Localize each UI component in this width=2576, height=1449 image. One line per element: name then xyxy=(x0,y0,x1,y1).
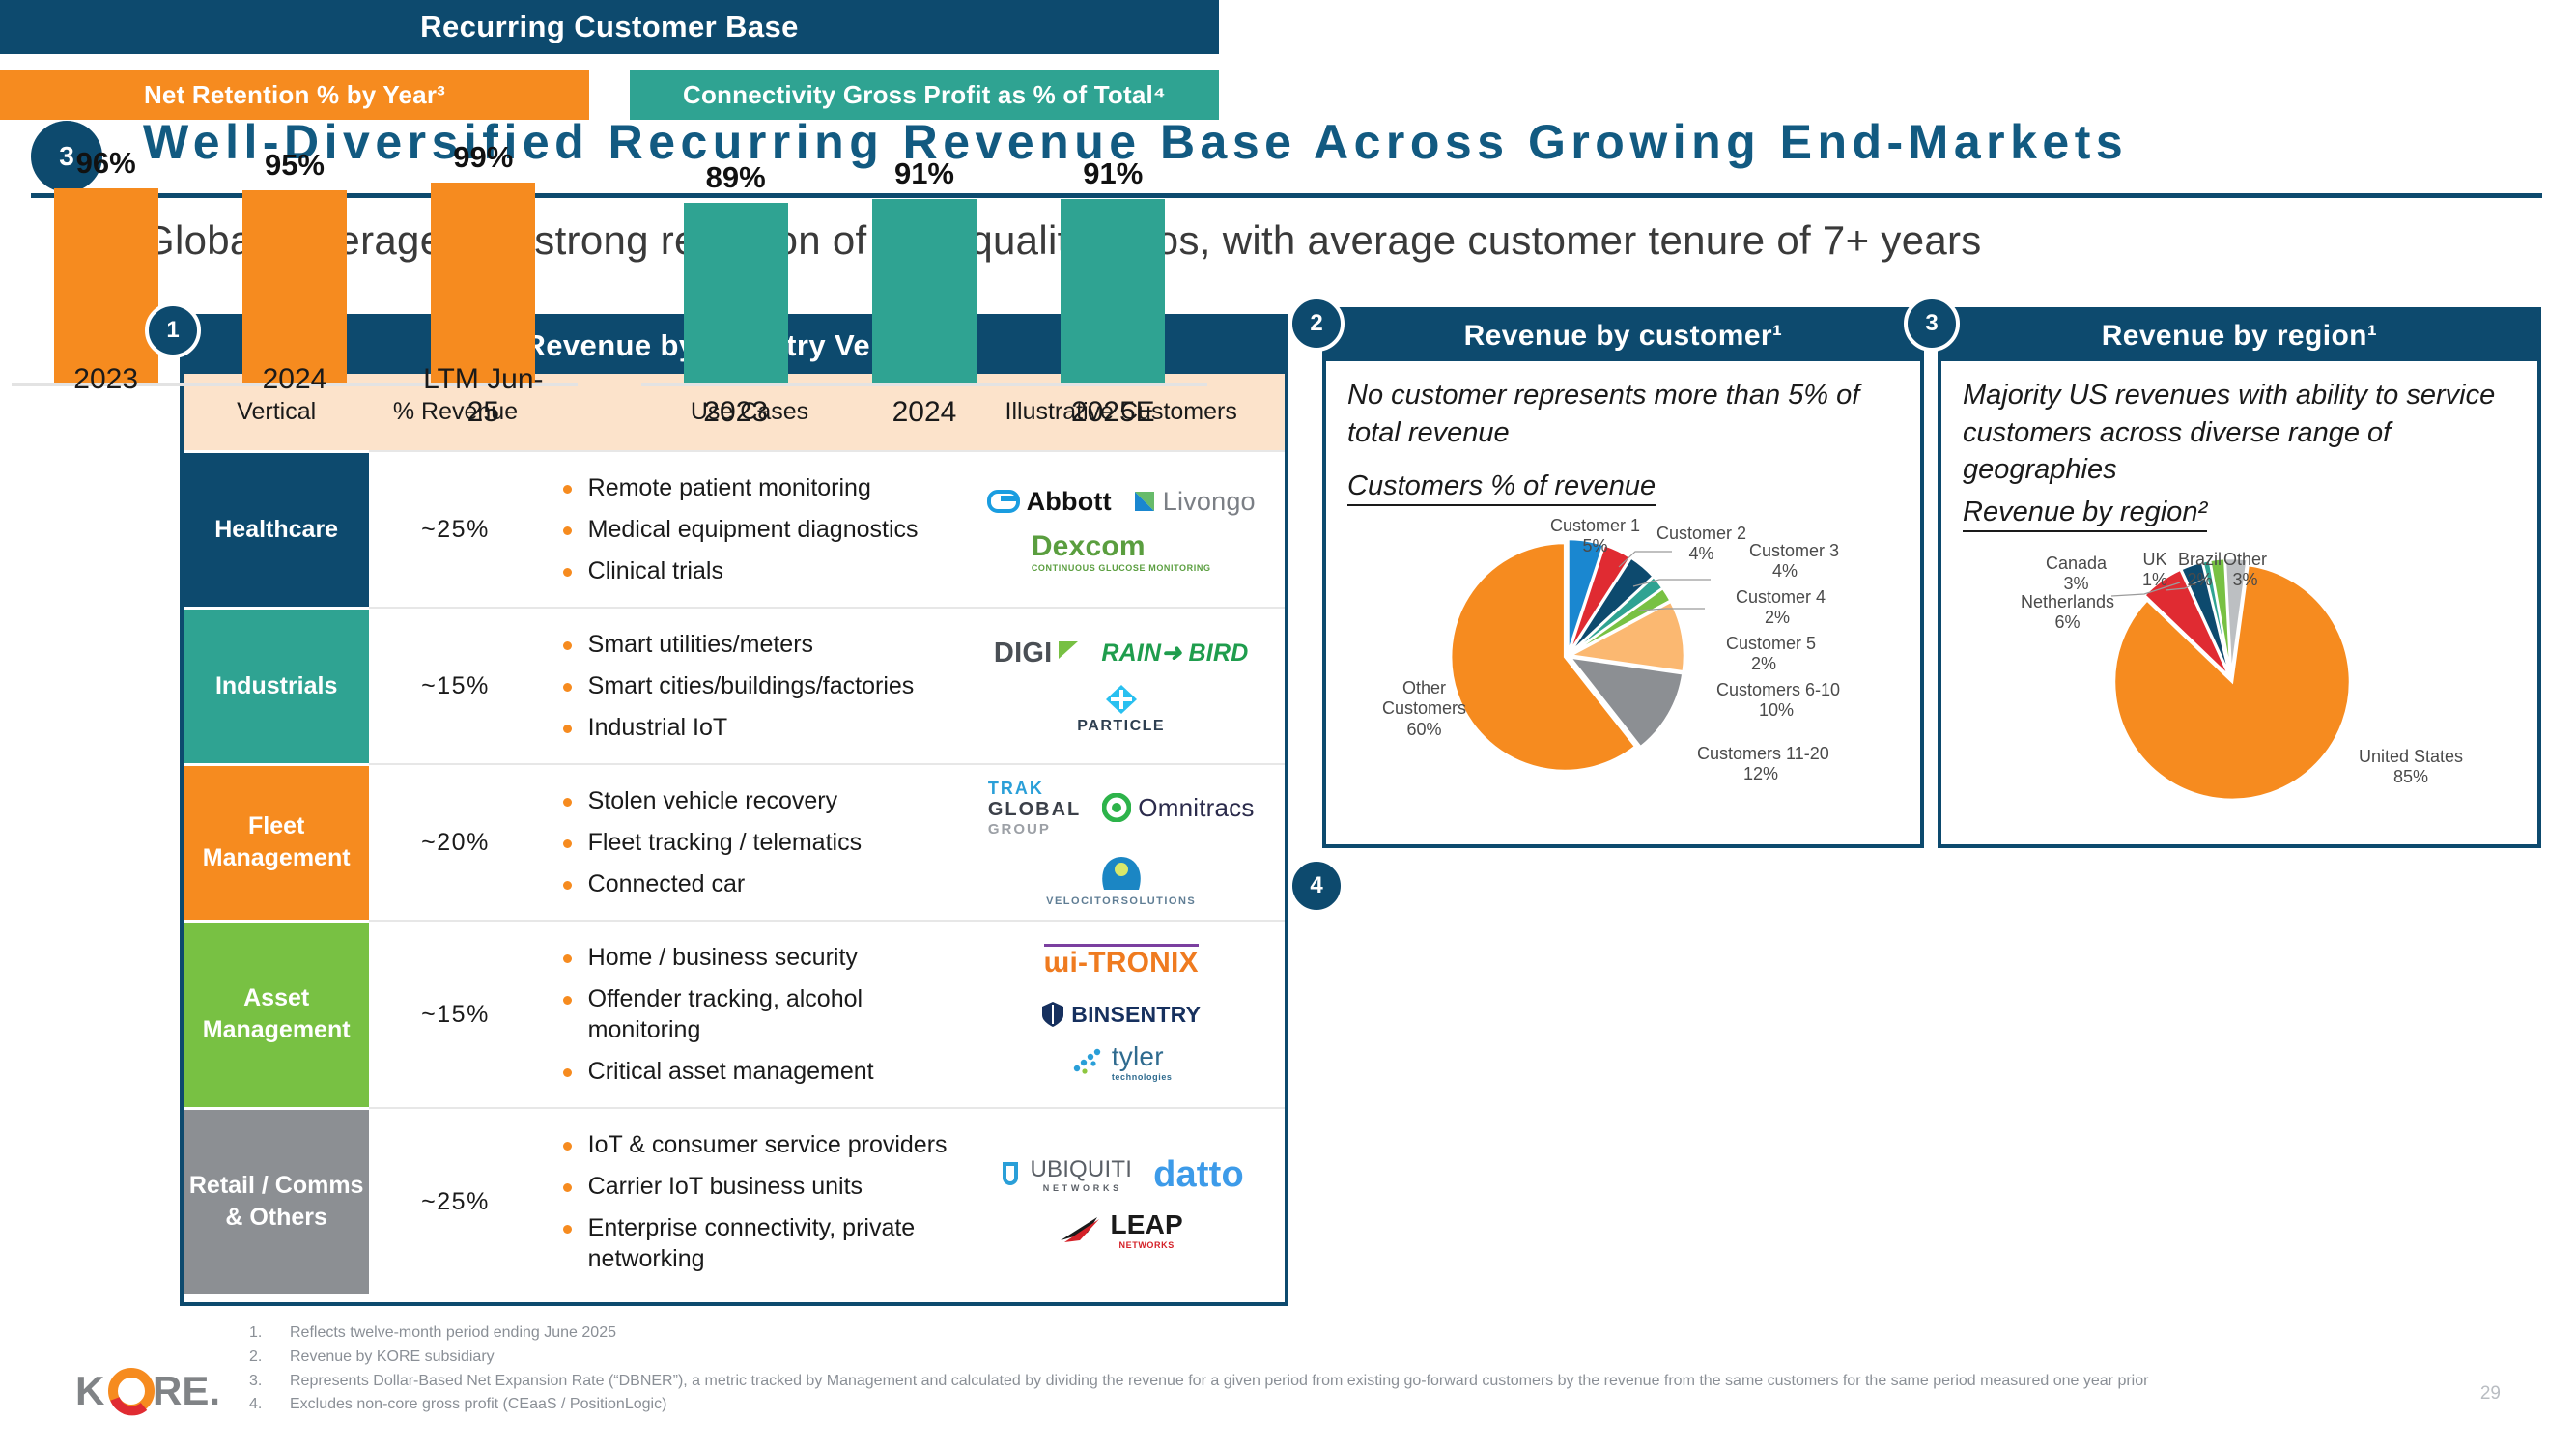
use-case-item: Remote patient monitoring xyxy=(555,472,954,503)
logo-row: AbbottLivongo xyxy=(963,487,1279,517)
customer-logo-tyler-technologies: tylertechnologies xyxy=(1070,1041,1173,1082)
bar-category-label: 2025E xyxy=(1040,396,1185,429)
vertical-cell: Retail / Comms & Others xyxy=(184,1108,369,1294)
table-row: Industrials~15%Smart utilities/metersSma… xyxy=(184,608,1285,764)
illustrative-customers-cell: AbbottLivongoDexcomCONTINUOUS GLUCOSE MO… xyxy=(957,451,1285,608)
logo-row: ɯi-TRONIXBINSENTRY xyxy=(963,947,1279,1028)
pie-label-canada: Canada3% xyxy=(2046,554,2107,594)
svg-text:RE.: RE. xyxy=(153,1368,220,1413)
footnote-text: Revenue by KORE subsidiary xyxy=(290,1346,495,1370)
bar-column: 96% xyxy=(53,146,159,383)
panel-4-badge: 4 xyxy=(1288,858,1345,914)
panel-revenue-by-customer: Revenue by customer¹ No customer represe… xyxy=(1322,307,1924,848)
vertical-cell: Fleet Management xyxy=(184,764,369,921)
pie-label-customers-11-20: Customers 11-2012% xyxy=(1697,744,1829,784)
bar-column: 95% xyxy=(241,148,348,383)
region-pie-chart: Canada3% Netherlands6% UK1% Brazil2% Oth… xyxy=(1941,532,2537,812)
footnote-number: 4. xyxy=(249,1393,290,1417)
illustrative-customers-cell: TRAKGLOBALGROUPOmnitracsVELOCITORSOLUTIO… xyxy=(957,764,1285,921)
pie-label-customer-3: Customer 34% xyxy=(1749,541,1839,582)
revenue-pct-cell: ~15% xyxy=(369,921,541,1108)
revenue-pct-cell: ~25% xyxy=(369,1108,541,1294)
pie-label-netherlands: Netherlands6% xyxy=(2021,592,2114,633)
revenue-pct-cell: ~15% xyxy=(369,608,541,764)
bar-value-label: 96% xyxy=(76,146,136,181)
use-case-item: Home / business security xyxy=(555,942,954,973)
customer-pie-chart: Customer 15% Customer 24% Customer 34% C… xyxy=(1326,506,1920,786)
use-case-item: Stolen vehicle recovery xyxy=(555,785,954,816)
vertical-cell: Industrials xyxy=(184,608,369,764)
use-case-item: Offender tracking, alcohol monitoring xyxy=(555,983,954,1045)
pie-label-other-region: Other3% xyxy=(2223,550,2267,590)
panel-3-title: Revenue by region¹ xyxy=(1941,311,2537,361)
use-case-item: Smart utilities/meters xyxy=(555,629,954,660)
footnote-number: 1. xyxy=(249,1321,290,1346)
use-cases-cell: Remote patient monitoringMedical equipme… xyxy=(542,451,958,608)
revenue-pct-cell: ~25% xyxy=(369,451,541,608)
use-cases-cell: Home / business securityOffender trackin… xyxy=(542,921,958,1108)
pie-label-customers-6-10: Customers 6-1010% xyxy=(1716,680,1840,721)
use-cases-cell: IoT & consumer service providersCarrier … xyxy=(542,1108,958,1294)
bar-value-label: 91% xyxy=(894,156,954,191)
table-row: Asset Management~15%Home / business secu… xyxy=(184,921,1285,1108)
footnote-item: 2.Revenue by KORE subsidiary xyxy=(249,1346,2471,1370)
bar-category-label: 2023 xyxy=(664,396,808,429)
table-row: Fleet Management~20%Stolen vehicle recov… xyxy=(184,764,1285,921)
customer-logo-datto: datto xyxy=(1153,1154,1244,1196)
illustrative-customers-cell: DIGIRAIN➜ BIRDPARTICLE xyxy=(957,608,1285,764)
customer-logo-wi-tronix: ɯi-TRONIX xyxy=(1044,947,1199,980)
pie-label-united-states: United States85% xyxy=(2359,747,2463,787)
footnote-text: Excludes non-core gross profit (CEaaS / … xyxy=(290,1393,666,1417)
customer-logo-abbott: Abbott xyxy=(987,487,1112,517)
use-case-item: Enterprise connectivity, private network… xyxy=(555,1212,954,1274)
customer-logo-trak-global-group: TRAKGLOBALGROUP xyxy=(988,779,1081,838)
bar-category-label: 2024 xyxy=(222,363,367,429)
svg-text:K: K xyxy=(75,1368,104,1413)
footnote-number: 2. xyxy=(249,1346,290,1370)
net-retention-bar-chart: 96%95%99% 20232024LTM Jun-25 xyxy=(0,141,589,431)
page-number: 29 xyxy=(2480,1383,2501,1405)
connectivity-bar-chart: 89%91%91% 202320242025E xyxy=(630,141,1219,431)
illustrative-customers-cell: UBIQUITIN E T W O R K SdattoLEAPNETWORKS xyxy=(957,1108,1285,1294)
pie-label-customer-2: Customer 24% xyxy=(1656,524,1746,564)
bar-category-label: 2024 xyxy=(852,396,997,429)
bar-column: 89% xyxy=(683,160,789,383)
pie-label-customer-4: Customer 42% xyxy=(1736,587,1826,628)
vertical-cell: Asset Management xyxy=(184,921,369,1108)
footnote-text: Reflects twelve-month period ending June… xyxy=(290,1321,616,1346)
use-case-item: Smart cities/buildings/factories xyxy=(555,670,954,701)
bar-column: 91% xyxy=(1060,156,1166,383)
use-case-item: Fleet tracking / telematics xyxy=(555,827,954,858)
bar-category-label: 2023 xyxy=(34,363,179,429)
pie-label-customer-5: Customer 52% xyxy=(1726,634,1816,674)
customer-logo-rain-bird: RAIN➜ BIRD xyxy=(1101,639,1248,668)
use-case-item: Clinical trials xyxy=(555,555,954,586)
panel-3-badge: 3 xyxy=(1904,296,1960,352)
pie-label-other-customers: OtherCustomers60% xyxy=(1382,678,1466,740)
bar-column: 91% xyxy=(871,156,977,383)
customer-logo-livongo: Livongo xyxy=(1133,487,1256,517)
footnotes-list: 1.Reflects twelve-month period ending Ju… xyxy=(249,1321,2471,1417)
connectivity-card-title: Connectivity Gross Profit as % of Total⁴ xyxy=(630,70,1219,120)
customer-logo-ubiquiti-networks: UBIQUITIN E T W O R K S xyxy=(998,1156,1132,1193)
footnote-item: 4.Excludes non-core gross profit (CEaaS … xyxy=(249,1393,2471,1417)
bar-value-label: 89% xyxy=(706,160,766,195)
kore-logo: K RE. xyxy=(75,1366,220,1416)
footnote-text: Represents Dollar-Based Net Expansion Ra… xyxy=(290,1370,2148,1394)
logo-row: tylertechnologies xyxy=(963,1041,1279,1082)
bar-value-label: 91% xyxy=(1083,156,1143,191)
use-case-item: Critical asset management xyxy=(555,1056,954,1087)
panel-2-badge: 2 xyxy=(1288,296,1345,352)
customer-logo-velocitor-solutions: VELOCITORSOLUTIONS xyxy=(1046,851,1196,907)
slide-root: 3 Well-Diversified Recurring Revenue Bas… xyxy=(0,0,2576,1449)
panel-2-lead-text: No customer represents more than 5% of t… xyxy=(1326,361,1920,451)
revenue-pct-cell: ~20% xyxy=(369,764,541,921)
illustrative-customers-cell: ɯi-TRONIXBINSENTRYtylertechnologies xyxy=(957,921,1285,1108)
industry-vertical-table: Vertical % Revenue Use Cases Illustrativ… xyxy=(184,374,1285,1294)
panel-2-chart-subtitle: Customers % of revenue xyxy=(1347,470,1656,506)
vertical-cell: Healthcare xyxy=(184,451,369,608)
panel-3-chart-subtitle: Revenue by region² xyxy=(1963,497,2207,532)
kore-logo-svg: K RE. xyxy=(75,1366,220,1416)
use-case-item: Medical equipment diagnostics xyxy=(555,514,954,545)
chart-axis xyxy=(641,383,1207,386)
customer-logo-binsentry: BINSENTRY xyxy=(1041,1001,1201,1028)
pie-label-brazil: Brazil2% xyxy=(2178,550,2222,590)
bar-rect xyxy=(872,199,977,383)
net-retention-card-title: Net Retention % by Year³ xyxy=(0,70,589,120)
bar-value-label: 95% xyxy=(265,148,325,183)
use-cases-cell: Stolen vehicle recoveryFleet tracking / … xyxy=(542,764,958,921)
customer-logo-particle: PARTICLE xyxy=(1077,683,1165,735)
panel-revenue-by-region: Revenue by region¹ Majority US revenues … xyxy=(1938,307,2541,848)
customer-logo-leap-networks: LEAPNETWORKS xyxy=(1059,1209,1182,1250)
customer-logo-digi: DIGI xyxy=(994,638,1080,669)
customer-logo-omnitracs: Omnitracs xyxy=(1102,793,1254,823)
panel-2-title: Revenue by customer¹ xyxy=(1326,311,1920,361)
logo-row: LEAPNETWORKS xyxy=(963,1209,1279,1250)
logo-row: VELOCITORSOLUTIONS xyxy=(963,851,1279,907)
logo-row: TRAKGLOBALGROUPOmnitracs xyxy=(963,779,1279,838)
panel-1-badge: 1 xyxy=(145,302,201,358)
bar-rect xyxy=(1061,199,1165,383)
use-cases-cell: Smart utilities/metersSmart cities/build… xyxy=(542,608,958,764)
panel-revenue-by-industry-vertical: Revenue by Industry Vertical Vertical % … xyxy=(180,314,1288,1306)
pie-label-customer-1: Customer 15% xyxy=(1550,516,1640,556)
logo-row: UBIQUITIN E T W O R K Sdatto xyxy=(963,1154,1279,1196)
table-row: Healthcare~25%Remote patient monitoringM… xyxy=(184,451,1285,608)
bar-value-label: 99% xyxy=(453,140,513,175)
footnote-item: 3.Represents Dollar-Based Net Expansion … xyxy=(249,1370,2471,1394)
logo-row: PARTICLE xyxy=(963,683,1279,735)
pie-label-uk: UK1% xyxy=(2142,550,2167,590)
panel-3-lead-text: Majority US revenues with ability to ser… xyxy=(1941,361,2537,489)
customer-logo-dexcom: DexcomCONTINUOUS GLUCOSE MONITORING xyxy=(1032,530,1211,573)
logo-row: DIGIRAIN➜ BIRD xyxy=(963,638,1279,669)
bar-rect xyxy=(431,183,535,383)
use-case-item: Industrial IoT xyxy=(555,712,954,743)
bar-category-label: LTM Jun-25 xyxy=(410,363,555,429)
footnote-number: 3. xyxy=(249,1370,290,1394)
bar-rect xyxy=(684,203,788,383)
panel-4-title: Recurring Customer Base xyxy=(0,0,1219,54)
use-case-item: Connected car xyxy=(555,868,954,899)
bar-rect xyxy=(242,190,347,383)
use-case-item: Carrier IoT business units xyxy=(555,1171,954,1202)
bar-column: 99% xyxy=(430,140,536,383)
use-case-item: IoT & consumer service providers xyxy=(555,1129,954,1160)
logo-row: DexcomCONTINUOUS GLUCOSE MONITORING xyxy=(963,530,1279,573)
footnote-item: 1.Reflects twelve-month period ending Ju… xyxy=(249,1321,2471,1346)
table-row: Retail / Comms & Others~25%IoT & consume… xyxy=(184,1108,1285,1294)
bar-rect xyxy=(54,188,158,383)
